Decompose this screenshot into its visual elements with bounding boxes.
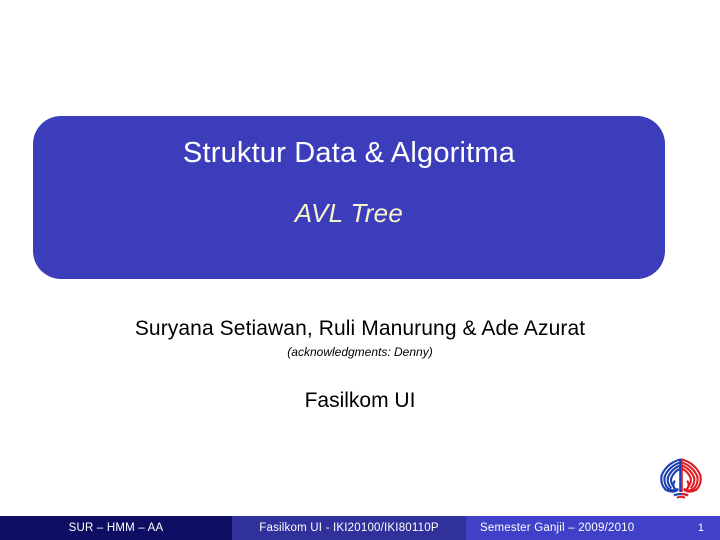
authors-line: Suryana Setiawan, Ruli Manurung & Ade Az…: [0, 316, 720, 342]
title-banner: Struktur Data & Algoritma AVL Tree: [33, 116, 665, 279]
presentation-slide: Struktur Data & Algoritma AVL Tree Surya…: [0, 0, 720, 540]
authors-block: Suryana Setiawan, Ruli Manurung & Ade Az…: [0, 316, 720, 414]
course-title: Struktur Data & Algoritma: [33, 136, 665, 170]
footer-course-segment: Fasilkom UI - IKI20100/IKI80110P: [232, 516, 466, 540]
lecture-subtitle: AVL Tree: [33, 198, 665, 228]
institution-line: Fasilkom UI: [0, 388, 720, 414]
slide-footer: SUR – HMM – AA Fasilkom UI - IKI20100/IK…: [0, 516, 720, 540]
slide-page-number: 1: [698, 516, 704, 540]
footer-semester-segment: Semester Ganjil – 2009/2010: [466, 516, 720, 540]
universitas-indonesia-logo-icon: [652, 450, 710, 508]
acknowledgment-line: (acknowledgments: Denny): [0, 344, 720, 360]
footer-authors-segment: SUR – HMM – AA: [0, 516, 232, 540]
